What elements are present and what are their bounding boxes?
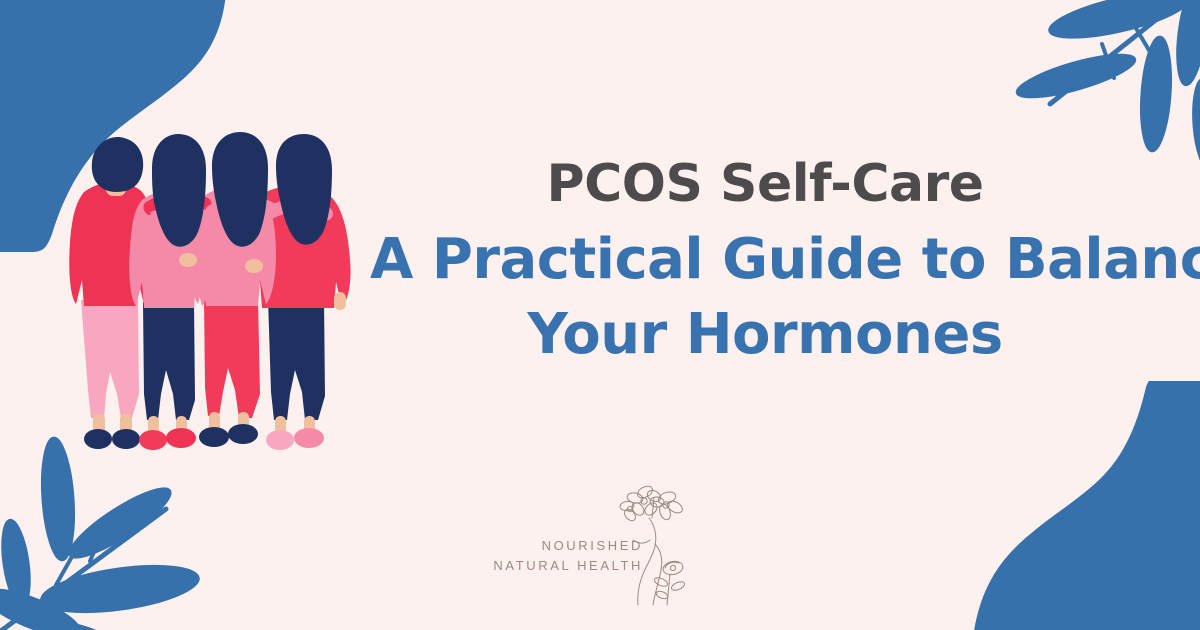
headline-line-3: Your Hormones: [370, 306, 1160, 363]
banner-canvas: PCOS Self-Care A Practical Guide to Bala…: [0, 0, 1200, 630]
logo-name-line-1: NOURISHED: [493, 536, 643, 556]
headline-line-2: A Practical Guide to Balancing: [370, 231, 1160, 288]
logo-name-line-2: NATURAL HEALTH: [493, 556, 643, 576]
logo-wordmark: NOURISHED NATURAL HEALTH: [493, 536, 643, 576]
headline-line-1: PCOS Self-Care: [370, 158, 1160, 211]
brand-logo: NOURISHED NATURAL HEALTH: [0, 478, 1200, 608]
four-women-illustration: [62, 132, 362, 462]
headline-block: PCOS Self-Care A Practical Guide to Bala…: [370, 158, 1160, 363]
